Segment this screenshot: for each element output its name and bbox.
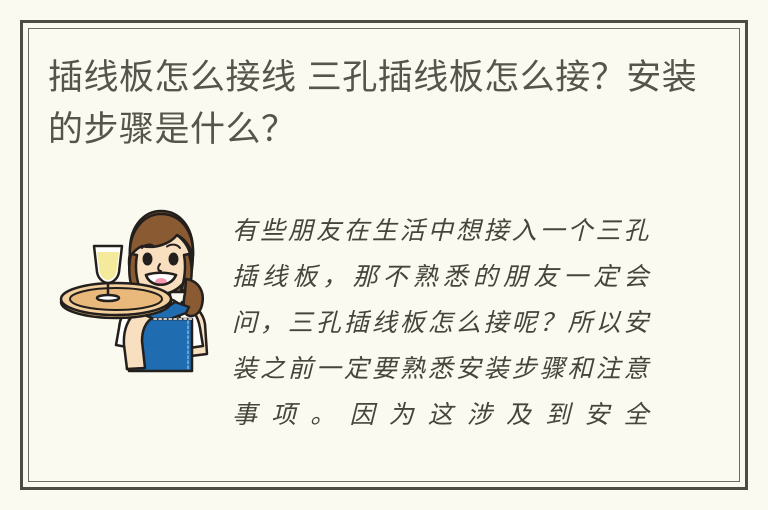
article-body-paragraph: 有些朋友在生活中想接入一个三孔插线板，那不熟悉的朋友一定会问，三孔插线板怎么接呢… (232, 208, 650, 438)
article-card: 插线板怎么接线 三孔插线板怎么接？安装的步骤是什么？ (0, 0, 768, 510)
page-title: 插线板怎么接线 三孔插线板怎么接？安装的步骤是什么？ (48, 52, 714, 156)
content-area: 有些朋友在生活中想接入一个三孔插线板，那不熟悉的朋友一定会问，三孔插线板怎么接呢… (48, 196, 714, 466)
waitress-with-tray-icon (57, 204, 222, 379)
